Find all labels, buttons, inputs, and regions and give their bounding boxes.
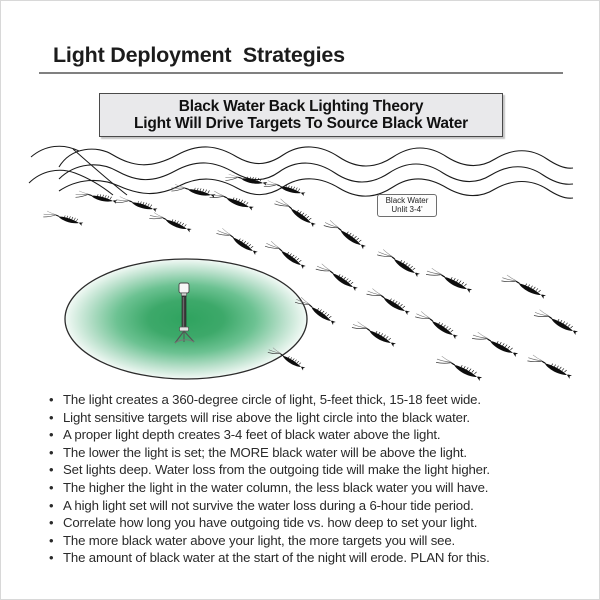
list-item: • A high light set will not survive the … (49, 497, 579, 515)
bullet-marker-icon: • (49, 549, 63, 567)
list-item-label: A high light set will not survive the wa… (63, 497, 474, 515)
theory-banner-line-2: Light Will Drive Targets To Source Black… (134, 115, 468, 132)
list-item: • Correlate how long you have outgoing t… (49, 514, 579, 532)
bullet-marker-icon: • (49, 426, 63, 444)
list-item: • The more black water above your light,… (49, 532, 579, 550)
list-item: • The lower the light is set; the MORE b… (49, 444, 579, 462)
bullet-marker-icon: • (49, 461, 63, 479)
strategy-bullet-list: • The light creates a 360-degree circle … (49, 391, 579, 567)
page-title: Light Deployment Strategies (53, 43, 345, 68)
list-item-label: The amount of black water at the start o… (63, 549, 490, 567)
bullet-marker-icon: • (49, 391, 63, 409)
list-item: • The amount of black water at the start… (49, 549, 579, 567)
slide-page: Light Deployment Strategies Black Water … (0, 0, 600, 600)
wave-lines-icon (29, 146, 573, 198)
list-item-label: The higher the light in the water column… (63, 479, 488, 497)
list-item-label: The more black water above your light, t… (63, 532, 455, 550)
list-item: • The higher the light in the water colu… (49, 479, 579, 497)
title-divider (39, 72, 563, 74)
list-item: • Light sensitive targets will rise abov… (49, 409, 579, 427)
theory-banner: Black Water Back Lighting Theory Light W… (99, 93, 503, 137)
unlit-label-line-2: Unlit 3-4' (391, 206, 422, 214)
theory-banner-line-1: Black Water Back Lighting Theory (179, 98, 424, 115)
bullet-marker-icon: • (49, 479, 63, 497)
list-item-label: A proper light depth creates 3-4 feet of… (63, 426, 440, 444)
list-item-label: Light sensitive targets will rise above … (63, 409, 470, 427)
list-item-label: Set lights deep. Water loss from the out… (63, 461, 490, 479)
list-item: • Set lights deep. Water loss from the o… (49, 461, 579, 479)
list-item-label: The lower the light is set; the MORE bla… (63, 444, 467, 462)
list-item: • The light creates a 360-degree circle … (49, 391, 579, 409)
black-water-illustration (1, 139, 600, 384)
bullet-marker-icon: • (49, 532, 63, 550)
bullet-marker-icon: • (49, 409, 63, 427)
list-item-label: Correlate how long you have outgoing tid… (63, 514, 477, 532)
bullet-marker-icon: • (49, 497, 63, 515)
bullet-marker-icon: • (49, 444, 63, 462)
list-item: • A proper light depth creates 3-4 feet … (49, 426, 579, 444)
list-item-label: The light creates a 360-degree circle of… (63, 391, 481, 409)
bullet-marker-icon: • (49, 514, 63, 532)
black-water-unlit-label: Black Water Unlit 3-4' (377, 194, 437, 217)
